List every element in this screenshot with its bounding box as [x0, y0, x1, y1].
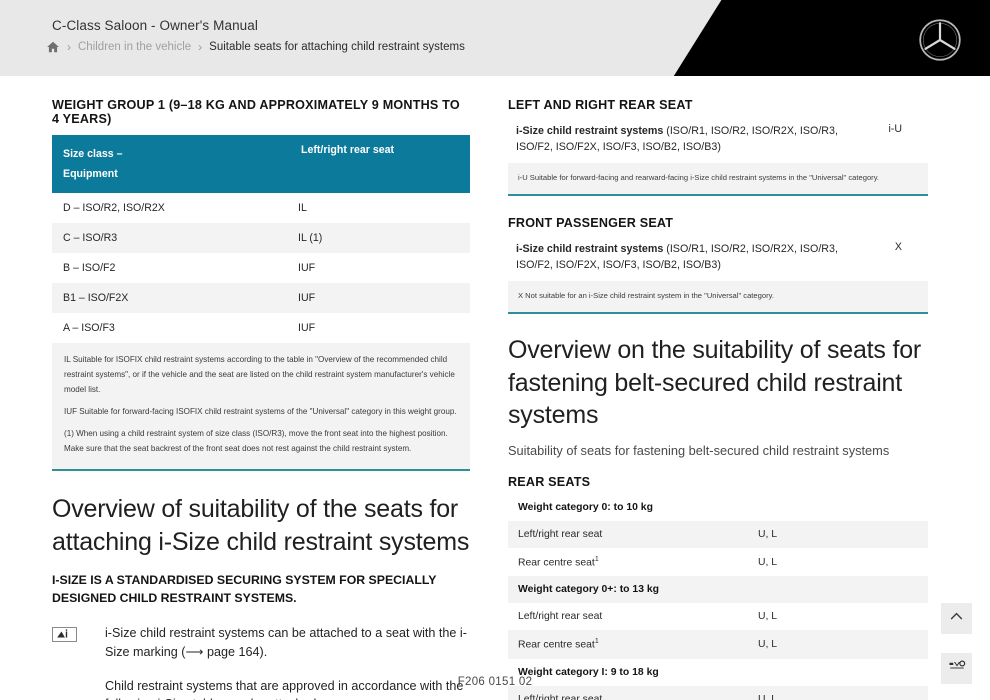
seat-value: U, L	[748, 603, 928, 630]
seat-value: U, L	[748, 548, 928, 576]
breadcrumb-item-parent[interactable]: Children in the vehicle	[78, 41, 191, 53]
rear-seat-footnote: i-U Suitable for forward-facing and rear…	[508, 163, 928, 196]
front-seat-value: X	[895, 241, 928, 253]
seat-value: U, L	[748, 521, 928, 548]
right-overview-subheading: Suitability of seats for fastening belt-…	[508, 443, 928, 458]
front-seat-footnote: X Not suitable for an i-Size child restr…	[508, 281, 928, 314]
rear-seat-description-bold: i-Size child restraint systems	[516, 125, 663, 137]
weight-group-1-footnotes: IL Suitable for ISOFIX child restraint s…	[52, 343, 470, 471]
right-overview-heading: Overview on the suitability of seats for…	[508, 334, 928, 432]
table-header-size-class-line1: Size class –	[63, 144, 279, 164]
mercedes-benz-star-logo	[918, 18, 962, 62]
cell-rear-seat: IL (1)	[290, 223, 470, 253]
tools-button[interactable]	[941, 653, 972, 684]
front-seat-description-bold: i-Size child restraint systems	[516, 243, 663, 255]
seat-label: Left/right rear seat	[508, 521, 748, 548]
breadcrumb-separator-1: ›	[67, 41, 71, 53]
cell-rear-seat: IUF	[290, 283, 470, 313]
page-title: C-Class Saloon - Owner's Manual	[52, 18, 258, 33]
cell-rear-seat: IUF	[290, 313, 470, 343]
left-overview-heading: Overview of suitability of the seats for…	[52, 493, 470, 558]
i-size-note-text: i-Size child restraint systems can be at…	[105, 624, 470, 700]
category-label: Weight category 0: to 10 kg	[508, 494, 748, 521]
belt-secured-table: Weight category 0: to 10 kg Left/right r…	[508, 494, 928, 700]
table-row-category: Weight category 0+: to 13 kg	[508, 576, 928, 603]
table-row: A – ISO/F3 IUF	[52, 313, 470, 343]
breadcrumb-separator-2: ›	[198, 41, 202, 53]
table-row: B1 – ISO/F2X IUF	[52, 283, 470, 313]
seat-label-text: Rear centre seat	[518, 640, 595, 651]
table-row: Left/right rear seat U, L	[508, 521, 928, 548]
cell-size-class: C – ISO/R3	[52, 223, 290, 253]
table-row: Rear centre seat1 U, L	[508, 548, 928, 576]
table-row: Left/right rear seat U, L	[508, 686, 928, 700]
front-seat-description: i-Size child restraint systems (ISO/R1, …	[516, 241, 846, 273]
left-column: WEIGHT GROUP 1 (9–18 KG AND APPROXIMATEL…	[52, 98, 470, 700]
footnote-1: (1) When using a child restraint system …	[64, 427, 458, 457]
table-row: B – ISO/F2 IUF	[52, 253, 470, 283]
breadcrumb-item-current: Suitable seats for attaching child restr…	[209, 41, 465, 53]
chevron-up-icon	[948, 608, 965, 630]
cell-rear-seat: IUF	[290, 253, 470, 283]
front-seat-entry: i-Size child restraint systems (ISO/R1, …	[508, 239, 928, 281]
seat-value: U, L	[748, 686, 928, 700]
category-label: Weight category 0+: to 13 kg	[508, 576, 748, 603]
belt-secured-table-body: Weight category 0: to 10 kg Left/right r…	[508, 494, 928, 700]
table-header-row: Size class – Equipment Left/right rear s…	[52, 135, 470, 193]
cell-rear-seat: IL	[290, 193, 470, 223]
seat-label: Left/right rear seat	[508, 603, 748, 630]
weight-group-1-title: WEIGHT GROUP 1 (9–18 KG AND APPROXIMATEL…	[52, 98, 470, 126]
page-body: WEIGHT GROUP 1 (9–18 KG AND APPROXIMATEL…	[0, 76, 990, 700]
footnote-iuf: IUF Suitable for forward-facing ISOFIX c…	[64, 405, 458, 420]
seat-label-superscript: 1	[595, 556, 599, 563]
seat-label: Left/right rear seat	[508, 686, 748, 700]
table-row-category: Weight category 0: to 10 kg	[508, 494, 928, 521]
seat-label: Rear centre seat1	[508, 630, 748, 658]
cell-size-class: D – ISO/R2, ISO/R2X	[52, 193, 290, 223]
page-header: C-Class Saloon - Owner's Manual › Childr…	[0, 0, 990, 76]
weight-group-1-table: Size class – Equipment Left/right rear s…	[52, 135, 470, 343]
seat-label: Rear centre seat1	[508, 548, 748, 576]
rear-seats-title: REAR SEATS	[508, 475, 928, 489]
rear-seat-entry: i-Size child restraint systems (ISO/R1, …	[508, 121, 928, 163]
cell-size-class: A – ISO/F3	[52, 313, 290, 343]
table-row: C – ISO/R3 IL (1)	[52, 223, 470, 253]
footer-figure-code: F206 0151 02	[0, 676, 990, 688]
i-size-note-paragraph-1: i-Size child restraint systems can be at…	[105, 624, 470, 662]
cell-size-class: B1 – ISO/F2X	[52, 283, 290, 313]
front-passenger-seat-title: FRONT PASSENGER SEAT	[508, 216, 928, 230]
i-size-note-block: i-Size child restraint systems can be at…	[52, 624, 470, 700]
i-size-subheading: I-SIZE IS A STANDARDISED SECURING SYSTEM…	[52, 572, 470, 608]
table-row: Left/right rear seat U, L	[508, 603, 928, 630]
rear-seat-description: i-Size child restraint systems (ISO/R1, …	[516, 123, 846, 155]
footnote-il: IL Suitable for ISOFIX child restraint s…	[64, 353, 458, 398]
tool-glyph-icon	[948, 659, 966, 679]
table-header-size-class: Size class – Equipment	[52, 135, 290, 193]
table-header-rear-seat-label: Left/right rear seat	[301, 144, 394, 156]
table-header-rear-seat: Left/right rear seat	[290, 135, 470, 193]
cell-size-class: B – ISO/F2	[52, 253, 290, 283]
category-value	[748, 576, 928, 603]
seat-label-text: Rear centre seat	[518, 557, 595, 568]
category-value	[748, 494, 928, 521]
left-right-rear-seat-title: LEFT AND RIGHT REAR SEAT	[508, 98, 928, 112]
scroll-to-top-button[interactable]	[941, 603, 972, 634]
right-column: LEFT AND RIGHT REAR SEAT i-Size child re…	[508, 98, 928, 700]
seat-value: U, L	[748, 630, 928, 658]
rear-seat-value: i-U	[888, 123, 928, 135]
home-icon[interactable]	[46, 40, 60, 54]
i-size-marking-icon	[52, 627, 77, 642]
weight-group-1-table-body: D – ISO/R2, ISO/R2X IL C – ISO/R3 IL (1)…	[52, 193, 470, 343]
seat-label-superscript: 1	[595, 638, 599, 645]
table-row: Rear centre seat1 U, L	[508, 630, 928, 658]
table-header-size-class-line2: Equipment	[63, 164, 279, 184]
table-row: D – ISO/R2, ISO/R2X IL	[52, 193, 470, 223]
breadcrumb: › Children in the vehicle › Suitable sea…	[46, 40, 465, 54]
